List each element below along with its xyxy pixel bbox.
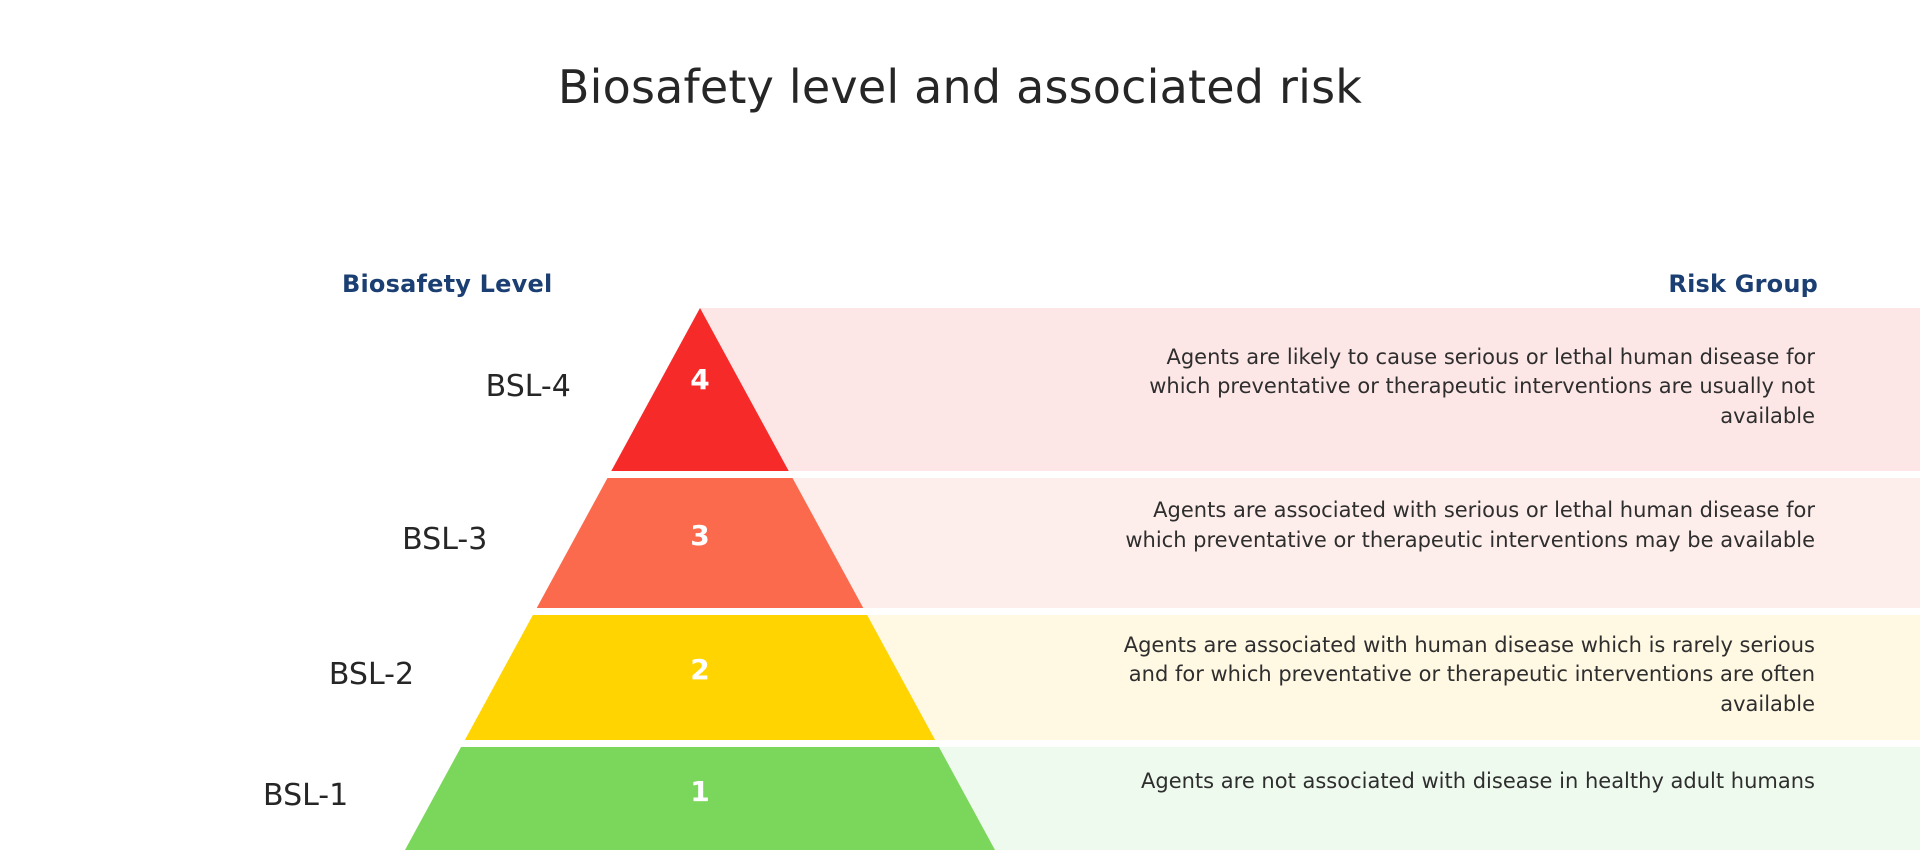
risk-pyramid — [0, 308, 1920, 850]
pyramid-tier — [537, 478, 864, 608]
pyramid-tier — [611, 308, 788, 471]
page-title: Biosafety level and associated risk — [0, 62, 1920, 113]
column-header-risk-group: Risk Group — [1668, 270, 1818, 298]
column-header-biosafety-level: Biosafety Level — [342, 270, 552, 298]
pyramid-tier — [465, 615, 935, 740]
pyramid-tier — [405, 747, 995, 850]
infographic-canvas: Biosafety level and associated risk Bios… — [0, 0, 1920, 850]
